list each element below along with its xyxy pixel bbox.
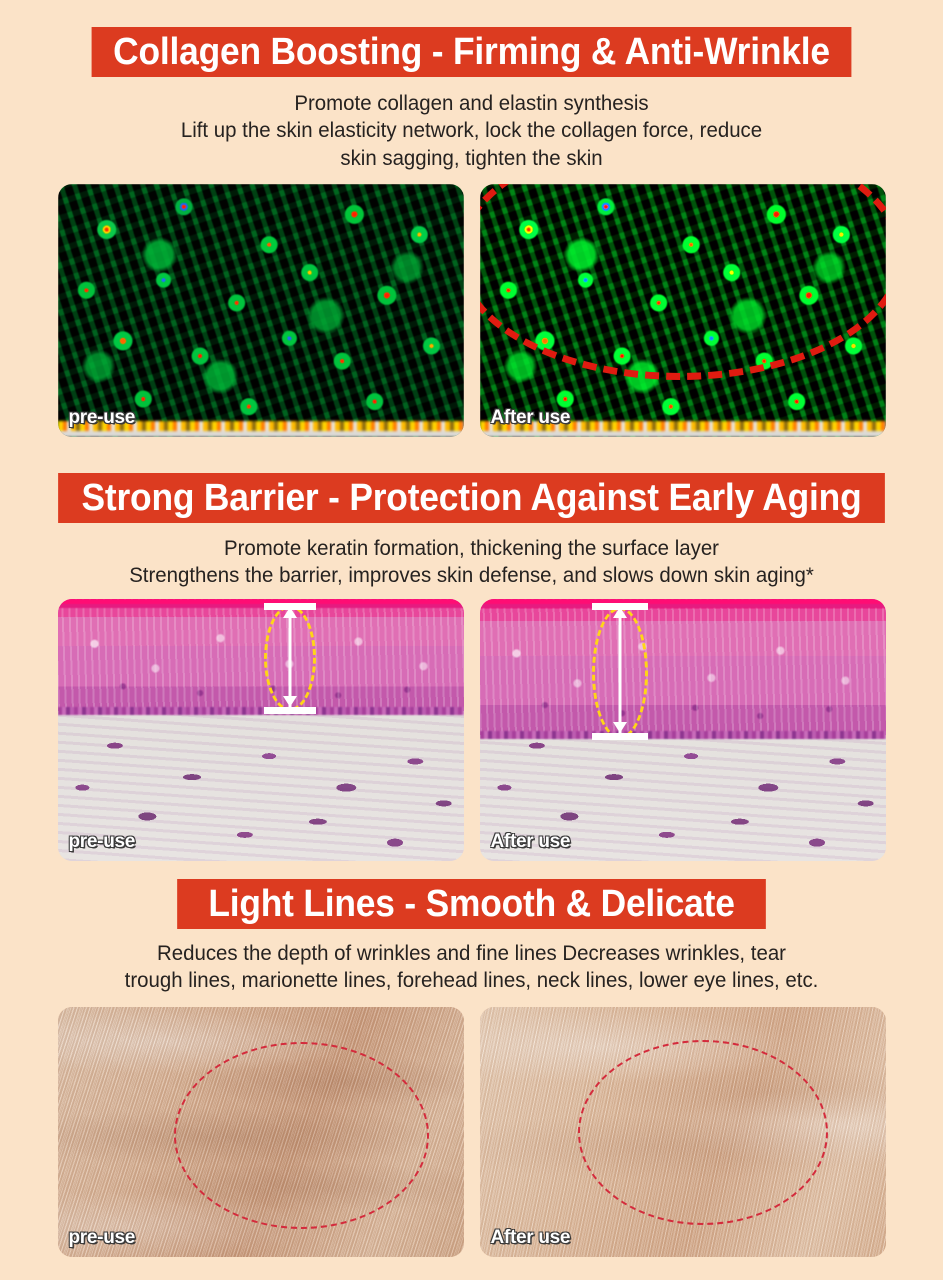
arrow-bottom-cap — [592, 733, 648, 740]
section-strong-barrier: Strong Barrier - Protection Against Earl… — [0, 473, 943, 861]
image-histology-pre-use[interactable]: pre-use — [58, 599, 464, 861]
thickness-measure-arrow — [592, 603, 648, 739]
histology-slide — [480, 599, 886, 861]
stratum-corneum — [480, 599, 886, 608]
description-line: Strengthens the barrier, improves skin d… — [24, 562, 920, 589]
section-light-lines: Light Lines - Smooth & Delicate Reduces … — [0, 879, 943, 1257]
image-collagen-after-use[interactable]: After use — [480, 184, 886, 437]
red-dashed-ellipse-icon — [578, 1040, 828, 1225]
image-label-after-use: After use — [491, 831, 571, 853]
description-line: Promote collagen and elastin synthesis — [24, 90, 920, 117]
histology-slide — [58, 599, 464, 861]
stratum-corneum — [58, 599, 464, 608]
description-line: skin sagging, tighten the skin — [24, 145, 920, 172]
arrow-head-down — [283, 696, 297, 707]
image-label-pre-use: pre-use — [69, 1227, 136, 1249]
section-heading-collagen-boosting: Collagen Boosting - Firming & Anti-Wrink… — [92, 27, 852, 77]
arrow-bottom-cap — [264, 707, 316, 714]
section-description-strong-barrier: Promote keratin formation, thickening th… — [24, 535, 920, 590]
infographic-page: Collagen Boosting - Firming & Anti-Wrink… — [0, 0, 943, 1280]
image-histology-after-use[interactable]: After use — [480, 599, 886, 861]
epidermis-layer — [58, 599, 464, 711]
image-skin-after-use[interactable]: After use — [480, 1007, 886, 1257]
thickness-measure-arrow — [264, 603, 316, 713]
image-skin-pre-use[interactable]: pre-use — [58, 1007, 464, 1257]
arrow-head-up — [283, 607, 297, 618]
banner-wrap-1: Collagen Boosting - Firming & Anti-Wrink… — [0, 27, 943, 77]
red-dashed-ellipse-icon — [174, 1042, 429, 1229]
description-line: Lift up the skin elasticity network, loc… — [24, 117, 920, 144]
arrow-shaft — [618, 609, 621, 735]
arrow-shaft — [288, 609, 291, 709]
description-line: Promote keratin formation, thickening th… — [24, 535, 920, 562]
image-label-after-use: After use — [491, 1227, 571, 1249]
description-line: trough lines, marionette lines, forehead… — [24, 967, 920, 994]
arrow-head-up — [613, 607, 627, 618]
banner-wrap-3: Light Lines - Smooth & Delicate — [0, 879, 943, 929]
banner-wrap-2: Strong Barrier - Protection Against Earl… — [0, 473, 943, 523]
arrow-head-down — [613, 722, 627, 733]
section-heading-light-lines: Light Lines - Smooth & Delicate — [177, 879, 766, 929]
section-description-collagen-boosting: Promote collagen and elastin synthesis L… — [24, 90, 920, 172]
red-dashed-circle-icon — [480, 184, 886, 380]
section-description-light-lines: Reduces the depth of wrinkles and fine l… — [24, 940, 920, 995]
comparison-pair-collagen: pre-use After use — [0, 184, 943, 437]
description-line: Reduces the depth of wrinkles and fine l… — [24, 940, 920, 967]
image-label-after-use: After use — [491, 407, 571, 429]
comparison-pair-histology: pre-use After — [0, 599, 943, 861]
image-collagen-pre-use[interactable]: pre-use — [58, 184, 464, 437]
image-label-pre-use: pre-use — [69, 407, 136, 429]
fluorescence-texture — [58, 184, 464, 437]
image-label-pre-use: pre-use — [69, 831, 136, 853]
section-collagen-boosting: Collagen Boosting - Firming & Anti-Wrink… — [0, 27, 943, 437]
epidermis-layer — [480, 599, 886, 735]
section-heading-strong-barrier: Strong Barrier - Protection Against Earl… — [58, 473, 885, 523]
comparison-pair-skin: pre-use After use — [0, 1007, 943, 1257]
